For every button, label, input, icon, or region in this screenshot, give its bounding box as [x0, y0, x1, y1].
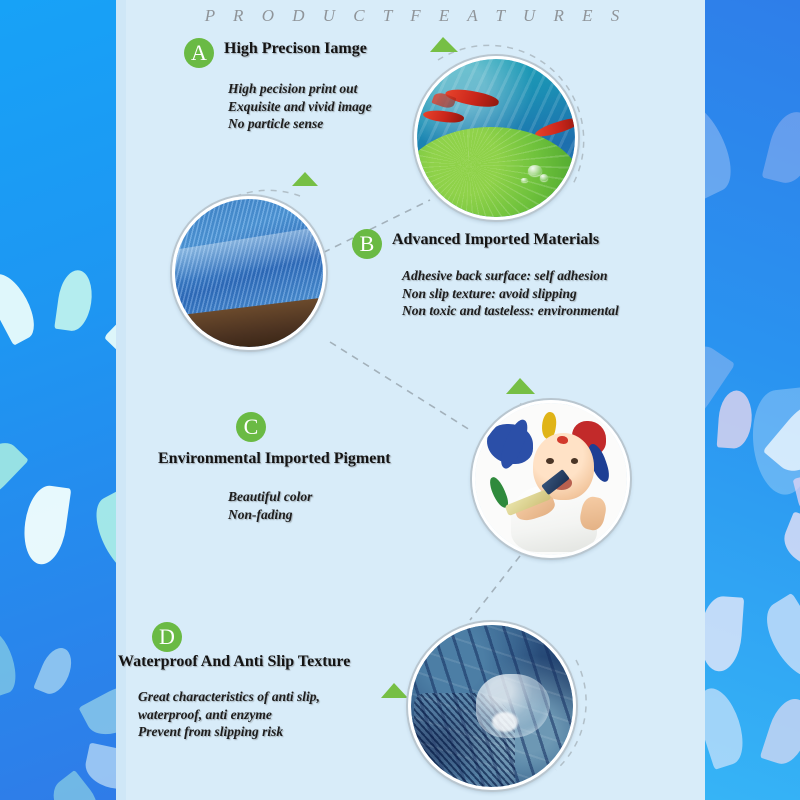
- feature-body-d: Great characteristics of anti slip, wate…: [138, 688, 320, 741]
- flower-petal: [104, 275, 116, 371]
- feature-image-c: [472, 400, 630, 558]
- feature-body-line: Great characteristics of anti slip,: [138, 688, 320, 706]
- feature-body-line: No particle sense: [228, 115, 372, 133]
- feature-body-a: High pecision print out Exquisite and vi…: [228, 80, 372, 133]
- flower-petal: [777, 511, 800, 575]
- flower-petal: [756, 593, 800, 687]
- feature-heading-d: Waterproof And Anti Slip Texture: [118, 653, 350, 671]
- feature-body-line: Non-fading: [228, 506, 312, 524]
- left-panel-seam: [116, 0, 126, 800]
- flower-petal: [0, 433, 29, 509]
- flower-petal: [0, 268, 43, 347]
- flower-petal: [705, 595, 744, 672]
- feature-heading-c: Environmental Imported Pigment: [158, 450, 391, 468]
- flower-petal: [705, 683, 751, 770]
- feature-badge-a: A: [184, 38, 214, 68]
- feature-body-line: Non toxic and tasteless: environmental: [402, 302, 619, 320]
- feature-body-line: waterproof, anti enzyme: [138, 706, 320, 724]
- right-decorative-border: [705, 0, 800, 800]
- feature-body-line: Beautiful color: [228, 488, 312, 506]
- feature-body-line: Adhesive back surface: self adhesion: [402, 267, 619, 285]
- flower-petal: [760, 694, 800, 769]
- page-title: P R O D U C T F E A T U R E S: [126, 6, 705, 26]
- flower-petal: [20, 484, 71, 567]
- flower-petal: [85, 488, 116, 587]
- flower-petal: [54, 268, 95, 333]
- flower-petal: [0, 627, 22, 698]
- feature-body-b: Adhesive back surface: self adhesion Non…: [402, 267, 619, 320]
- feature-body-line: Exquisite and vivid image: [228, 98, 372, 116]
- feature-image-d: [408, 622, 576, 790]
- flower-petal: [33, 643, 77, 698]
- flower-petal: [705, 93, 743, 200]
- product-features-poster: P R O D U C T F E A T U R E S: [0, 0, 800, 800]
- feature-body-c: Beautiful color Non-fading: [228, 488, 312, 523]
- flower-petal: [78, 676, 116, 745]
- feature-image-b: [172, 196, 326, 350]
- feature-body-line: High pecision print out: [228, 80, 372, 98]
- feature-heading-b: Advanced Imported Materials: [392, 231, 599, 249]
- feature-body-line: Non slip texture: avoid slipping: [402, 285, 619, 303]
- feature-badge-d: D: [152, 622, 182, 652]
- flower-petal: [717, 389, 754, 449]
- left-decorative-border: [0, 0, 116, 800]
- feature-heading-a: High Precison Iamge: [224, 40, 367, 58]
- flower-petal: [762, 107, 800, 187]
- feature-badge-b: B: [352, 229, 382, 259]
- feature-image-a: [414, 56, 578, 220]
- feature-badge-c: C: [236, 412, 266, 442]
- feature-body-line: Prevent from slipping risk: [138, 723, 320, 741]
